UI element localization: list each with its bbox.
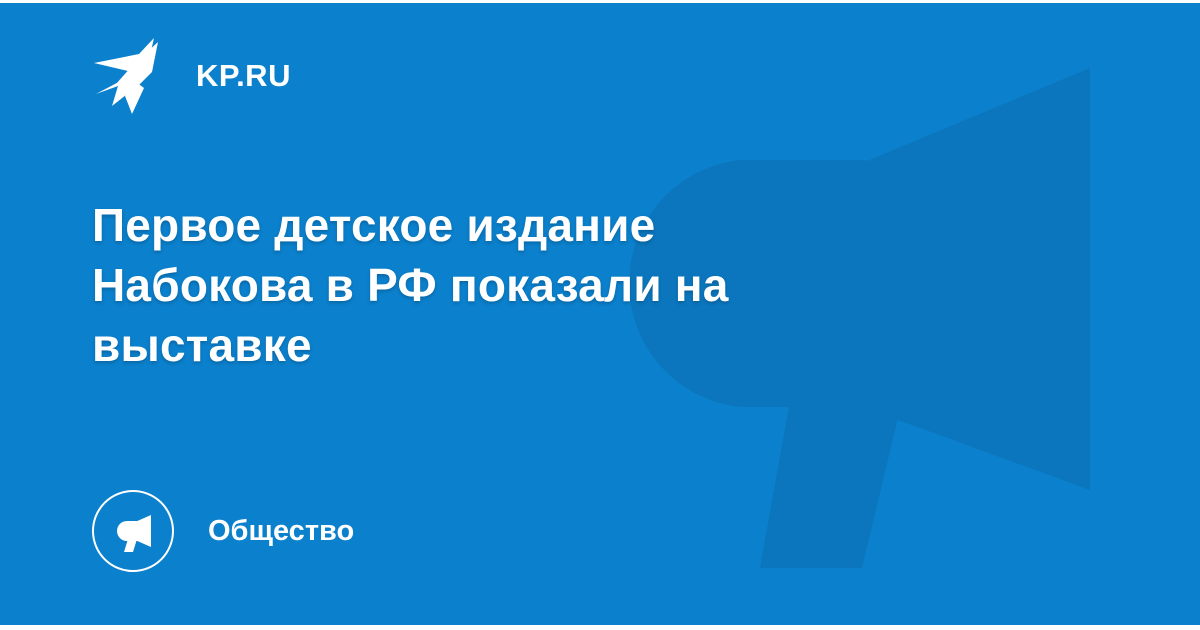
social-share-card: KP.RU Первое детское издание Набокова в …	[0, 0, 1200, 630]
category-icon-circle	[92, 490, 174, 572]
megaphone-icon	[111, 509, 155, 553]
card-blue-plate: KP.RU Первое детское издание Набокова в …	[0, 3, 1200, 625]
category-label: Общество	[208, 517, 354, 546]
brand-wordmark: KP.RU	[196, 60, 291, 91]
brand-logo[interactable]: KP.RU	[92, 35, 291, 115]
headline-title: Первое детское издание Набокова в РФ пок…	[92, 195, 852, 375]
swallow-bird-icon	[92, 36, 174, 114]
category-badge[interactable]: Общество	[92, 489, 354, 573]
